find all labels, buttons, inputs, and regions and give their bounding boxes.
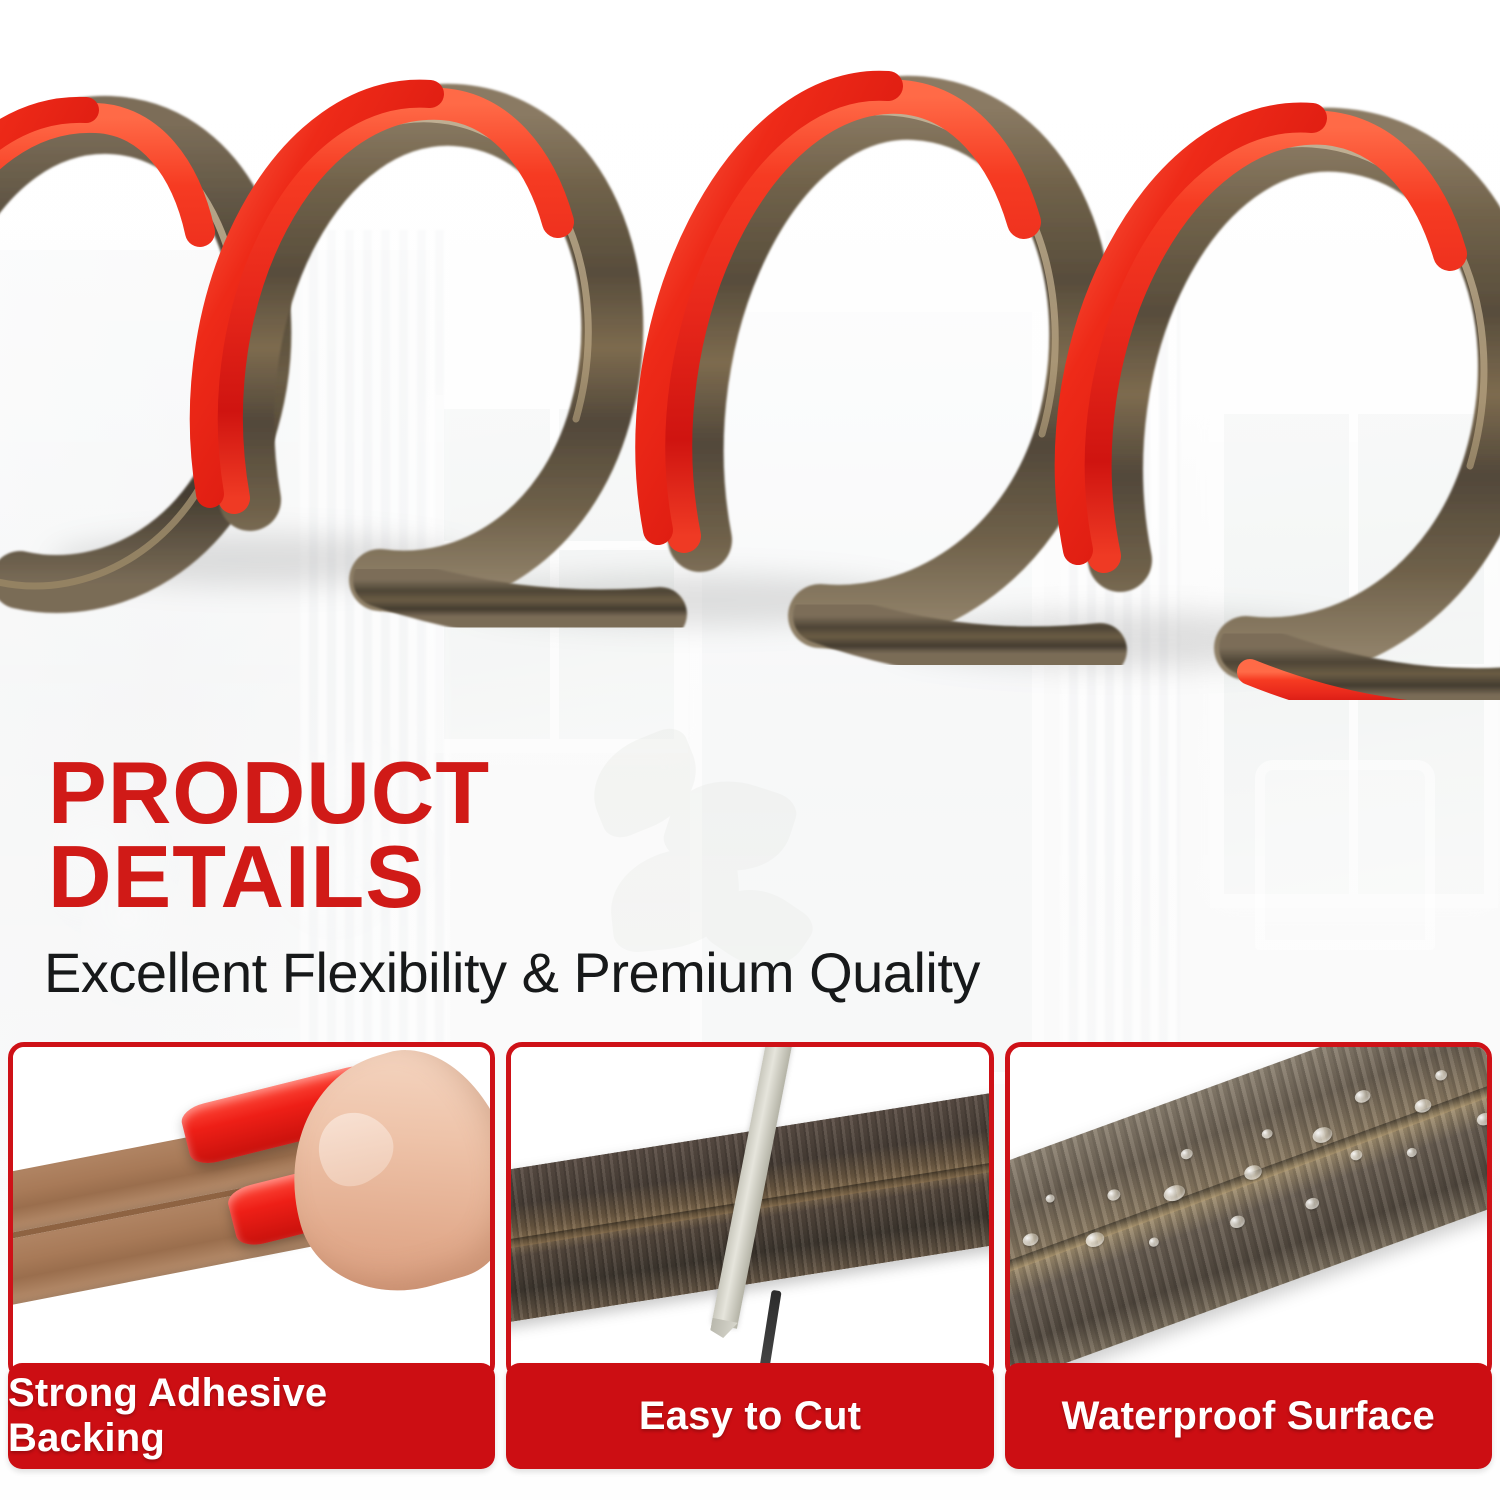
feature-panel-waterproof: Waterproof Surface xyxy=(1005,1042,1492,1380)
hero-product-image xyxy=(0,0,1500,700)
feature-caption-waterproof: Waterproof Surface xyxy=(1005,1363,1492,1469)
product-details-infographic: PRODUCT DETAILS Excellent Flexibility & … xyxy=(0,0,1500,1500)
water-droplets-beading-on-wood-grain-strip-photo xyxy=(1010,1047,1487,1375)
feature-caption-adhesive: Strong Adhesive Backing xyxy=(8,1363,495,1469)
coiled-strip-illustration xyxy=(0,0,1500,700)
page-subtitle: Excellent Flexibility & Premium Quality xyxy=(44,940,980,1005)
feature-panel-cut: Easy to Cut xyxy=(506,1042,993,1380)
scissors-cutting-wood-grain-strip-photo xyxy=(511,1047,988,1375)
coil-3 xyxy=(650,86,1100,654)
thumb-peeling-red-adhesive-liner-from-brown-strip-photo xyxy=(13,1047,490,1375)
wet-wood-grain-strip-graphic xyxy=(1010,1047,1487,1375)
feature-panel-adhesive: Strong Adhesive Backing xyxy=(8,1042,495,1380)
feature-panel-group: Strong Adhesive Backing Easy to Cut xyxy=(8,1042,1492,1472)
thumbnail-graphic xyxy=(303,1098,404,1198)
feature-caption-cut: Easy to Cut xyxy=(506,1363,993,1469)
page-title: PRODUCT DETAILS xyxy=(48,751,808,920)
